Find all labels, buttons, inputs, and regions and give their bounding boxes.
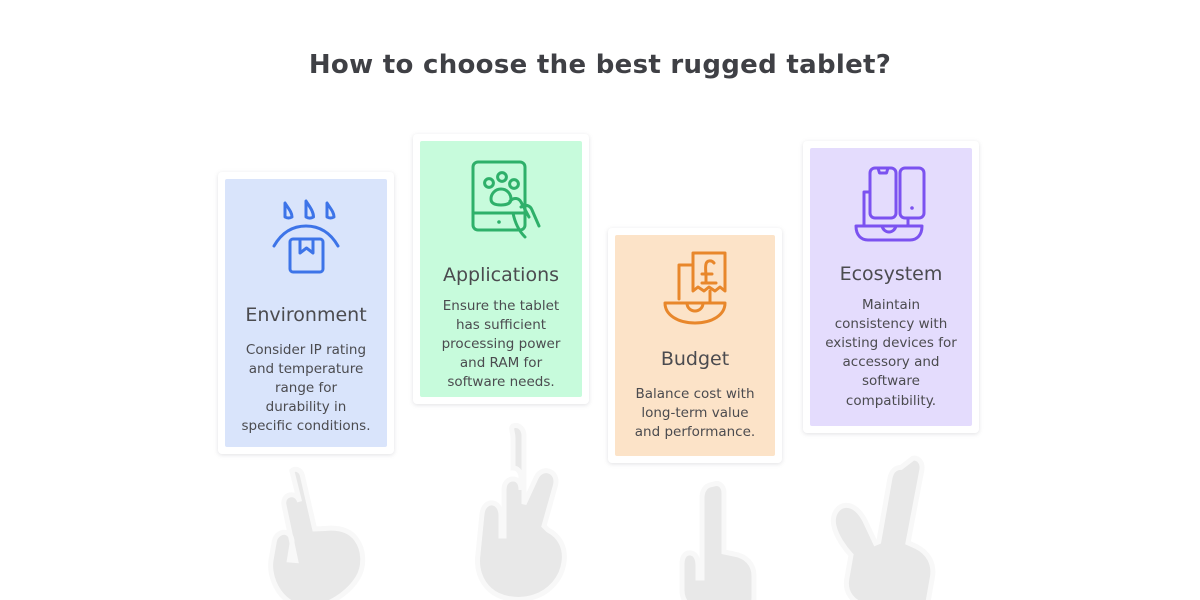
- card-applications-icon: [453, 153, 549, 249]
- card-applications[interactable]: Applications Ensure the tablet has suffi…: [413, 134, 589, 404]
- pointing-hand-center-left-icon: [456, 418, 576, 600]
- card-budget-heading: Budget: [661, 349, 729, 371]
- card-applications-inner: Applications Ensure the tablet has suffi…: [420, 141, 582, 397]
- card-environment-heading: Environment: [245, 305, 366, 327]
- card-budget[interactable]: Budget Balance cost with long-term value…: [608, 228, 782, 463]
- water-drops-over-box-icon: [260, 191, 352, 283]
- card-budget-icon: [651, 247, 739, 329]
- card-ecosystem-body: Maintain consistency with existing devic…: [825, 296, 957, 411]
- card-applications-heading: Applications: [443, 265, 559, 287]
- decorative-hands-layer: [0, 0, 1200, 600]
- card-environment[interactable]: Environment Consider IP rating and tempe…: [218, 172, 394, 454]
- card-applications-body: Ensure the tablet has sufficient process…: [442, 297, 561, 393]
- card-environment-icon: [260, 191, 352, 283]
- pointing-hand-left-icon: [246, 460, 376, 600]
- tablet-paw-hand-icon: [453, 153, 549, 249]
- card-ecosystem[interactable]: Ecosystem Maintain consistency with exis…: [803, 141, 979, 433]
- pointing-hand-center-right-icon: [672, 478, 772, 600]
- pointing-hand-right-icon: [826, 450, 961, 600]
- infographic-canvas: How to choose the best rugged tablet?: [0, 0, 1200, 600]
- card-ecosystem-heading: Ecosystem: [840, 264, 943, 286]
- receipt-pound-scale-icon: [651, 247, 739, 329]
- card-budget-inner: Budget Balance cost with long-term value…: [615, 235, 775, 456]
- card-environment-inner: Environment Consider IP rating and tempe…: [225, 179, 387, 447]
- card-environment-body: Consider IP rating and temperature range…: [241, 341, 370, 437]
- devices-on-dock-icon: [846, 160, 936, 246]
- card-budget-body: Balance cost with long-term value and pe…: [635, 385, 755, 442]
- card-ecosystem-inner: Ecosystem Maintain consistency with exis…: [810, 148, 972, 426]
- card-ecosystem-icon: [846, 160, 936, 246]
- page-title: How to choose the best rugged tablet?: [0, 50, 1200, 80]
